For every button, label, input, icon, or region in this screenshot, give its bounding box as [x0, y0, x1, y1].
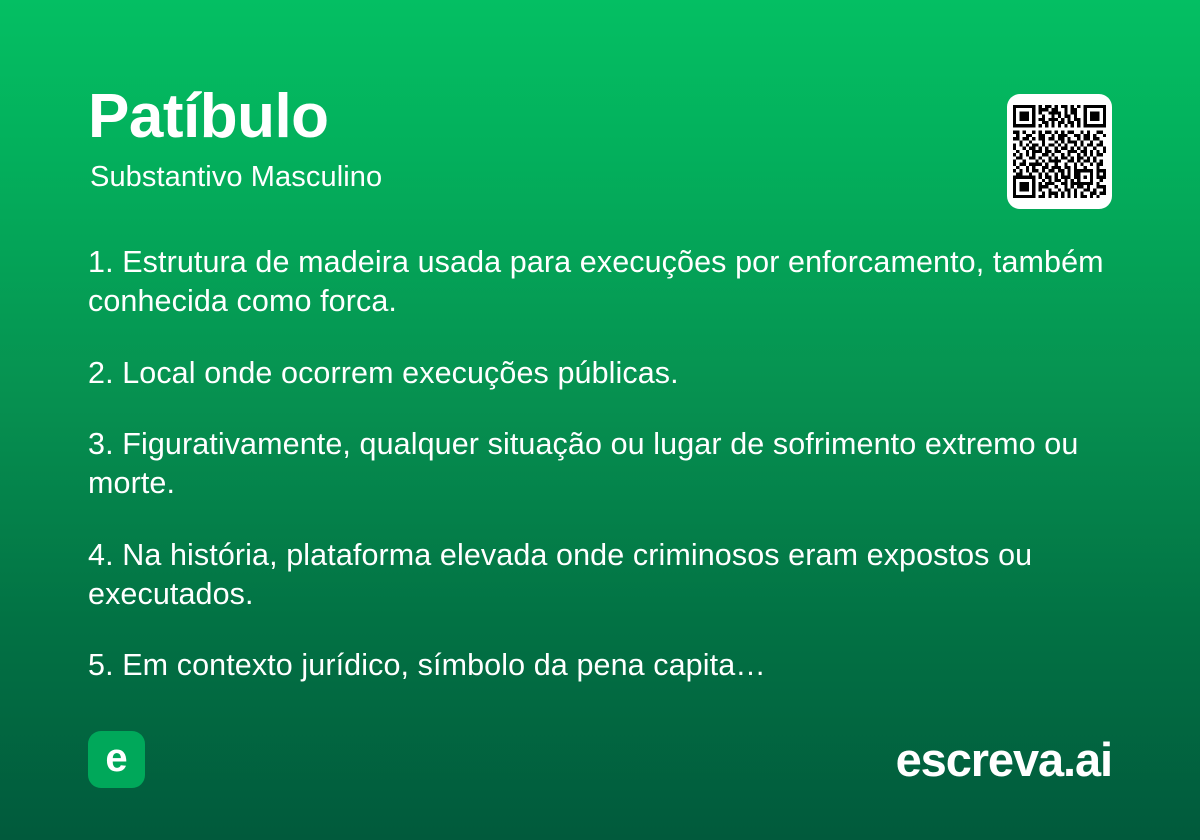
- word-class-label: Substantivo Masculino: [90, 162, 1112, 194]
- definition-item: 3. Figurativamente, qualquer situação ou…: [88, 425, 1118, 504]
- brand-wordmark: escreva.ai: [896, 736, 1112, 783]
- qr-code-icon: [1013, 105, 1106, 198]
- qr-code[interactable]: [1007, 94, 1112, 209]
- definition-item: 1. Estrutura de madeira usada para execu…: [88, 243, 1118, 322]
- dictionary-card: Patíbulo Substantivo Masculino: [0, 0, 1200, 840]
- page-title: Patíbulo: [88, 86, 1112, 148]
- escreva-logo-icon: e: [88, 731, 145, 788]
- definition-item: 5. Em contexto jurídico, símbolo da pena…: [88, 646, 1118, 685]
- definition-list: 1. Estrutura de madeira usada para execu…: [88, 243, 1118, 686]
- definition-item: 4. Na história, plataforma elevada onde …: [88, 536, 1118, 615]
- definition-item: 2. Local onde ocorrem execuções públicas…: [88, 354, 1118, 393]
- card-header: Patíbulo Substantivo Masculino: [88, 86, 1112, 216]
- card-footer: e escreva.ai: [88, 730, 1112, 788]
